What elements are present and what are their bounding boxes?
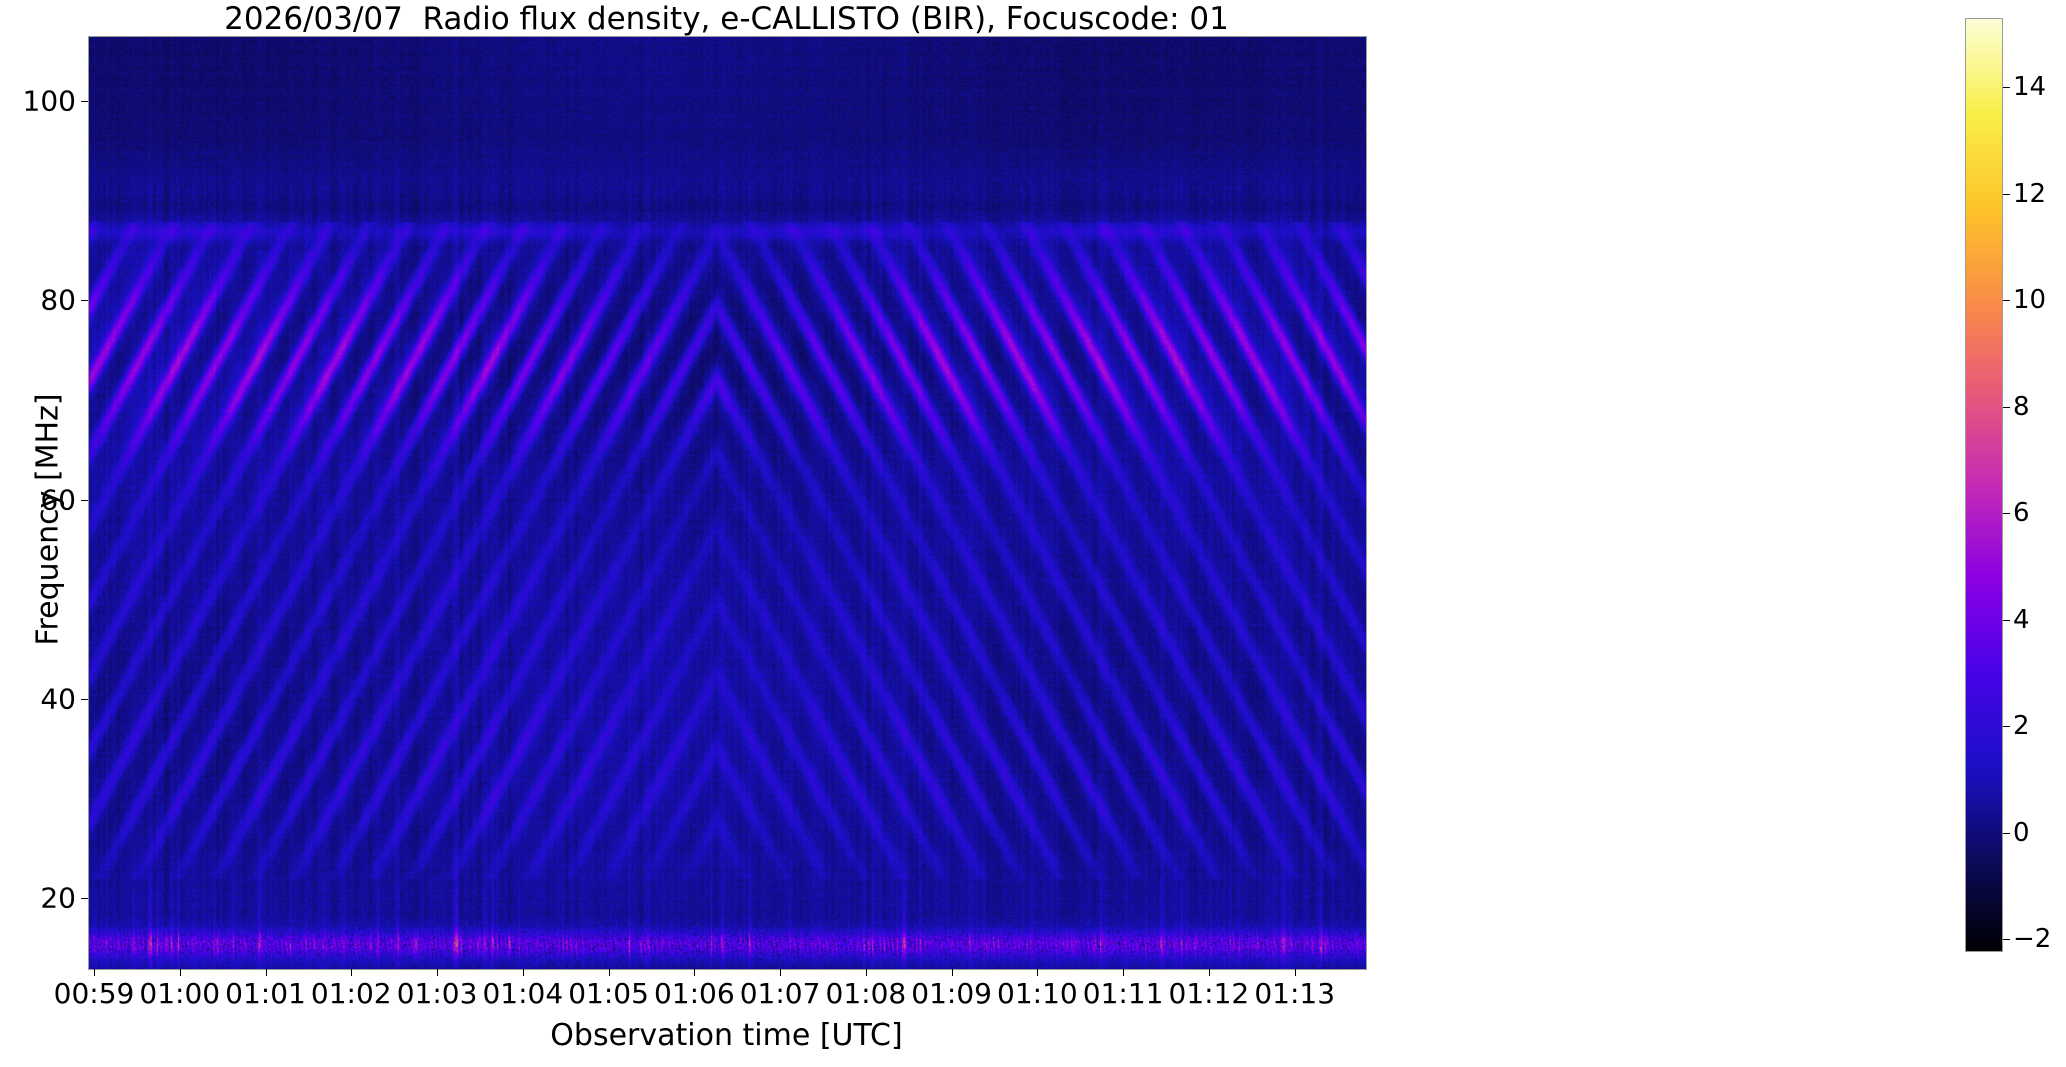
colorbar-tick-label: 6 [2013,498,2030,528]
colorbar-tick-label: −2 [2013,924,2051,954]
colorbar-tick-mark [2003,513,2010,514]
x-tick-mark [1209,969,1210,976]
x-tick-mark [609,969,610,976]
colorbar-tick-label: 10 [2013,285,2046,315]
colorbar-tick-mark [2003,407,2010,408]
colorbar[interactable] [1965,18,2003,952]
x-axis-label: Observation time [UTC] [88,1018,1365,1053]
colorbar-tick-mark [2003,833,2010,834]
x-tick-mark [1123,969,1124,976]
x-tick-mark [1037,969,1038,976]
colorbar-tick-mark [2003,620,2010,621]
colorbar-tick-mark [2003,87,2010,88]
figure-canvas: 2026/03/07 Radio flux density, e-CALLIST… [0,0,2066,1067]
colorbar-tick-label: 14 [2013,72,2046,102]
colorbar-tick-mark [2003,939,2010,940]
x-tick-mark [694,969,695,976]
colorbar-tick-label: 12 [2013,179,2046,209]
y-tick-label: 100 [6,84,76,117]
x-tick-mark [866,969,867,976]
y-tick-mark [81,898,88,899]
x-tick-mark [1295,969,1296,976]
y-tick-mark [81,699,88,700]
colorbar-gradient [1966,19,2002,951]
spectrogram-plot[interactable] [88,36,1367,970]
y-axis-label: Frequency [MHz] [31,240,66,800]
x-tick-mark [952,969,953,976]
colorbar-tick-label: 8 [2013,392,2030,422]
page-title: 2026/03/07 Radio flux density, e-CALLIST… [88,2,1365,36]
y-tick-label: 20 [6,882,76,915]
colorbar-tick-mark [2003,726,2010,727]
colorbar-tick-label: 4 [2013,605,2030,635]
x-tick-mark [180,969,181,976]
colorbar-tick-label: 0 [2013,818,2030,848]
y-tick-mark [81,101,88,102]
x-tick-mark [437,969,438,976]
y-tick-mark [81,500,88,501]
x-tick-mark [351,969,352,976]
x-tick-mark [94,969,95,976]
x-tick-label: 01:13 [1225,977,1365,1010]
colorbar-tick-mark [2003,194,2010,195]
colorbar-tick-mark [2003,300,2010,301]
y-tick-mark [81,300,88,301]
x-tick-mark [523,969,524,976]
x-tick-mark [780,969,781,976]
x-tick-mark [266,969,267,976]
spectrogram-image [89,37,1366,969]
colorbar-tick-label: 2 [2013,711,2030,741]
